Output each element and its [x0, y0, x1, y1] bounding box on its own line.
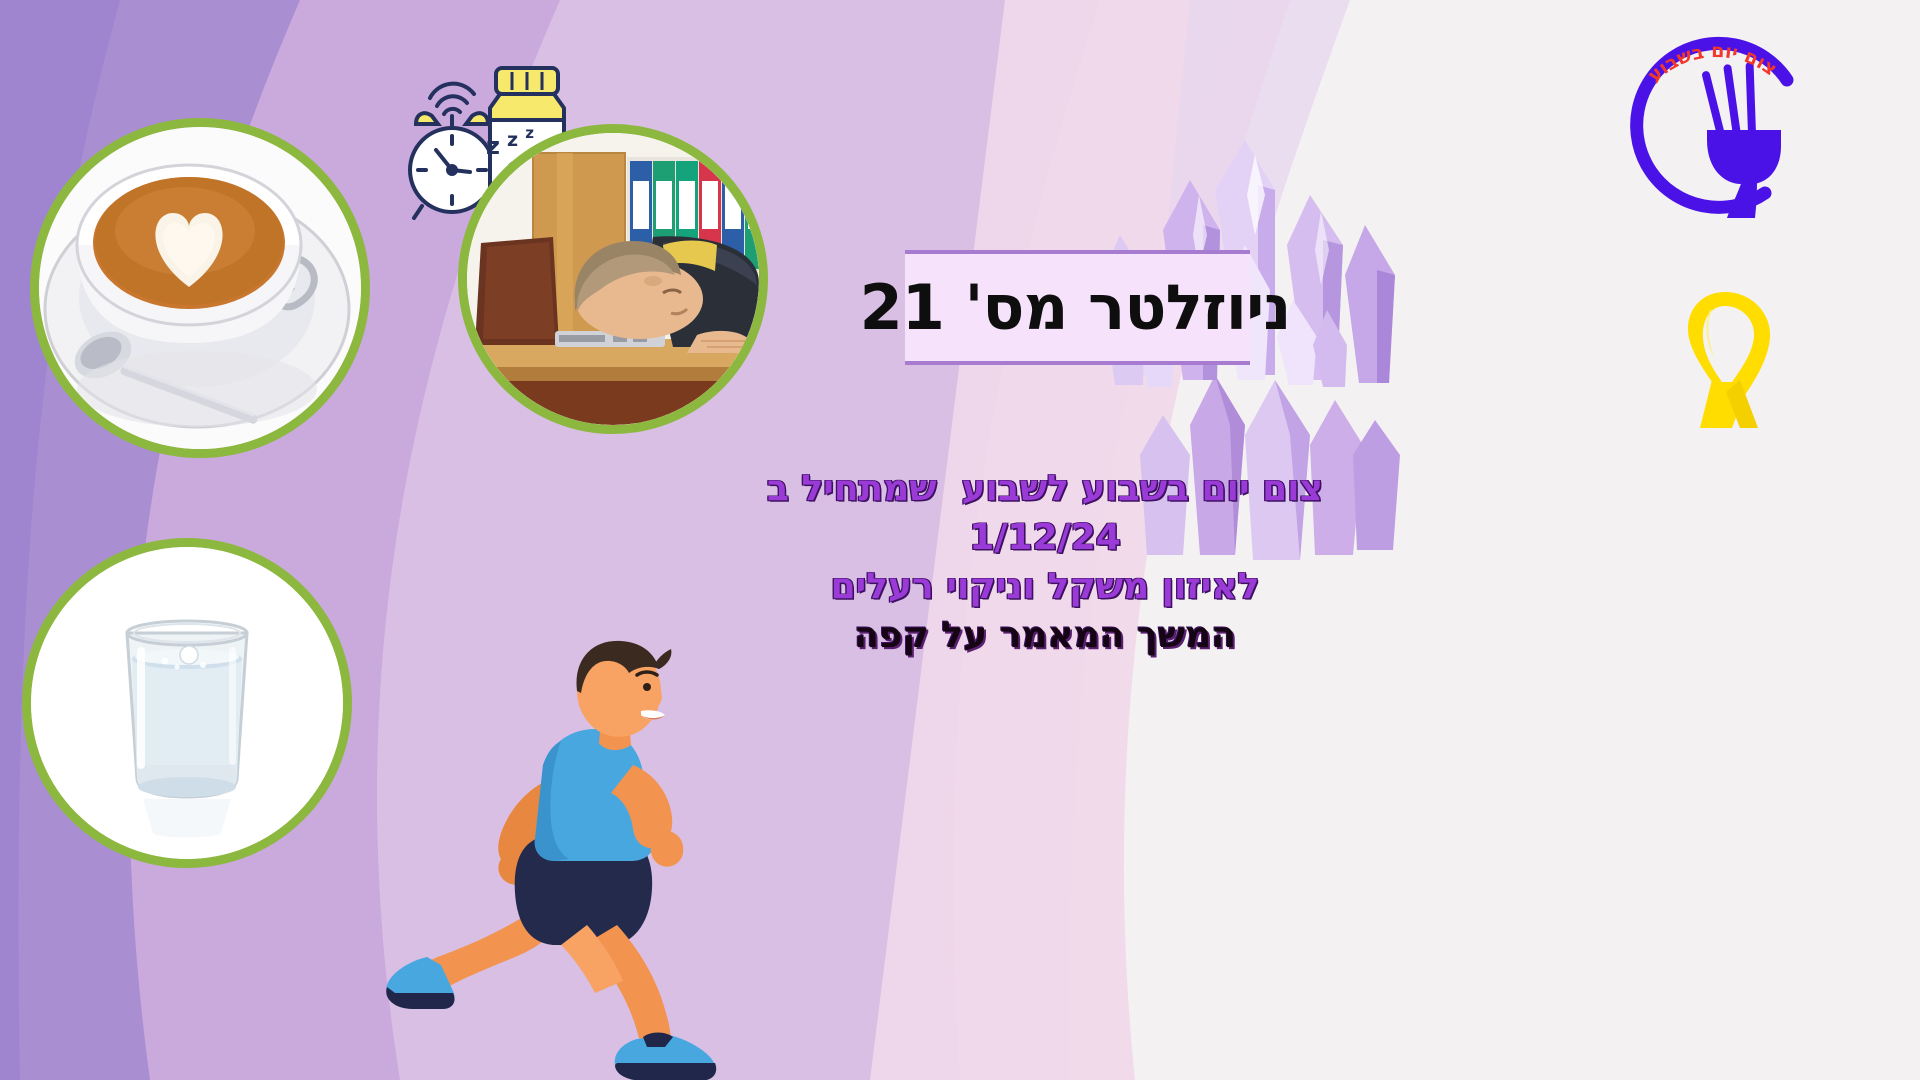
fork-in-circle-logo: צום יום בשבוע [1615, 18, 1815, 218]
sleeping-at-desk-photo [458, 124, 768, 434]
svg-text:z: z [525, 124, 534, 142]
svg-text:z: z [486, 132, 500, 160]
body-line-cta: המשך המאמר על קפה [700, 615, 1390, 656]
body-text-block: צום יום בשבוע לשבוע שמתחיל ב 1/12/24 לאי… [700, 468, 1390, 664]
water-glass-photo [22, 538, 352, 868]
page-title: ניוזלטר מס' 21 [840, 252, 1310, 362]
newsletter-poster: ניוזלטר מס' 21 צום יום בשבוע לשבוע שמתחי… [0, 0, 1920, 1080]
body-line-date: 1/12/24 [700, 517, 1390, 558]
coffee-cup-photo [30, 118, 370, 458]
body-line-1: צום יום בשבוע לשבוע שמתחיל ב [700, 468, 1390, 509]
yellow-awareness-ribbon [1660, 280, 1790, 430]
svg-text:z: z [507, 129, 518, 151]
running-man-illustration [365, 625, 765, 1080]
body-line-3: לאיזון משקל וניקוי רעלים [700, 566, 1390, 607]
logo-text: צום יום בשבוע [1643, 40, 1780, 87]
